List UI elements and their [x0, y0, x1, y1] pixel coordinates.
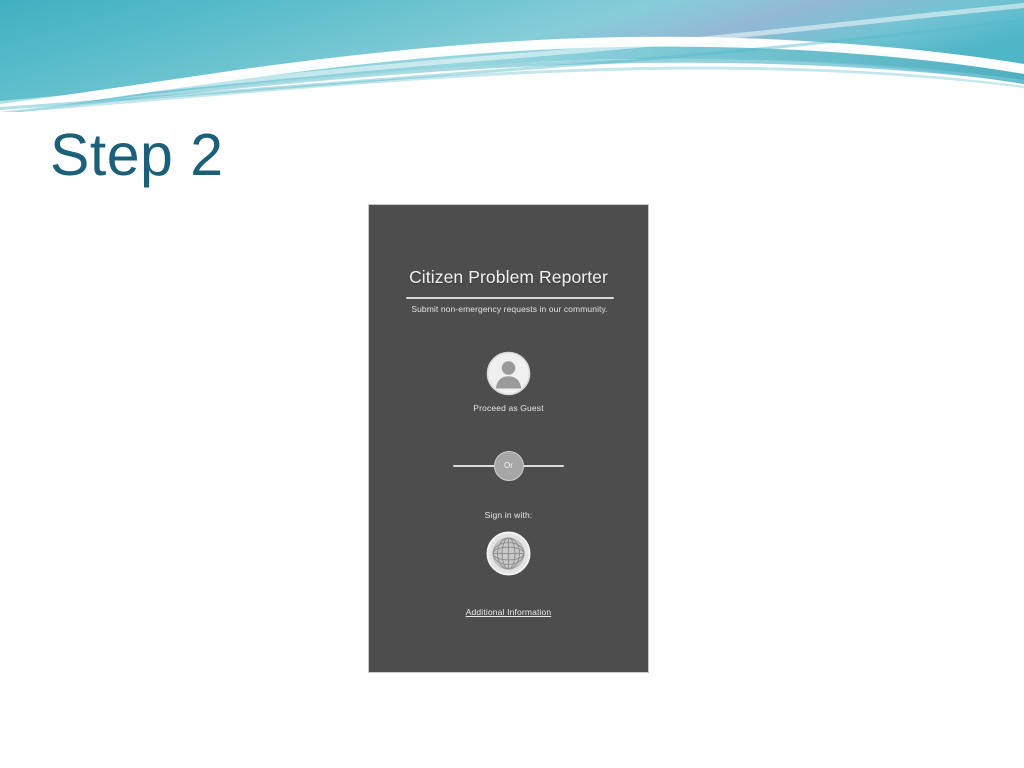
proceed-as-guest-label: Proceed as Guest: [369, 403, 648, 413]
sign-in-section: Sign in with:: [369, 510, 648, 581]
app-screen-mockup: Citizen Problem Reporter Submit non-emer…: [368, 204, 649, 673]
app-title: Citizen Problem Reporter: [369, 267, 648, 288]
additional-information-link[interactable]: Additional Information: [369, 607, 648, 617]
title-divider-rule: [406, 297, 614, 299]
sign-in-label: Sign in with:: [369, 510, 648, 520]
page-title: Step 2: [50, 125, 224, 187]
or-label: Or: [504, 462, 513, 470]
or-divider: Or: [369, 451, 648, 481]
person-avatar-icon: [486, 351, 531, 396]
app-subtitle: Submit non-emergency requests in our com…: [397, 303, 622, 316]
proceed-as-guest-button[interactable]: Proceed as Guest: [369, 351, 648, 413]
decorative-wave-banner: [0, 0, 1024, 112]
or-circle-icon: Or: [494, 451, 524, 481]
globe-icon[interactable]: [486, 531, 531, 576]
